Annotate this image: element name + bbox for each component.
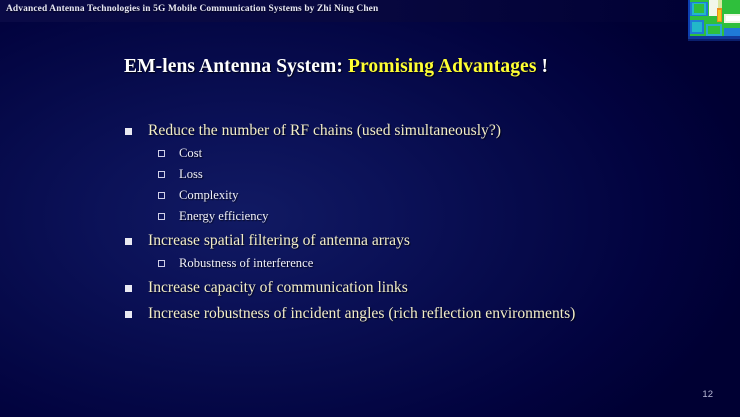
hollow-square-bullet-icon: [158, 192, 165, 199]
em-field-simulation-thumbnail: [688, 0, 740, 41]
bullet-text: Increase robustness of incident angles (…: [148, 305, 575, 322]
bullet-level1: Reduce the number of RF chains (used sim…: [124, 120, 624, 142]
slide-canvas: Advanced Antenna Technologies in 5G Mobi…: [0, 0, 740, 417]
bullet-text: Robustness of interference: [179, 256, 313, 270]
filled-square-bullet-icon: [125, 128, 132, 135]
filled-square-bullet-icon: [125, 285, 132, 292]
slide-title-highlight: Promising Advantages: [348, 56, 537, 77]
em-field-plot-icon: [688, 0, 740, 41]
bullet-list: Reduce the number of RF chains (used sim…: [124, 120, 624, 326]
bullet-level2: Robustness of interference: [124, 253, 624, 274]
bullet-text: Reduce the number of RF chains (used sim…: [148, 122, 501, 139]
hollow-square-bullet-icon: [158, 260, 165, 267]
bullet-level1: Increase capacity of communication links: [124, 277, 624, 299]
bullet-level1: Increase spatial filtering of antenna ar…: [124, 230, 624, 252]
bullet-text: Cost: [179, 146, 202, 160]
bullet-text: Complexity: [179, 188, 238, 202]
bullet-text: Increase capacity of communication links: [148, 279, 408, 296]
slide-title-suffix: !: [542, 56, 549, 77]
slide-title: EM-lens Antenna System: Promising Advant…: [124, 56, 548, 78]
bullet-level1: Increase robustness of incident angles (…: [124, 303, 624, 325]
filled-square-bullet-icon: [125, 311, 132, 318]
slide-title-main: EM-lens Antenna System:: [124, 56, 343, 77]
bullet-level2: Complexity: [124, 185, 624, 206]
bullet-text: Increase spatial filtering of antenna ar…: [148, 232, 410, 249]
bullet-text: Loss: [179, 167, 203, 181]
filled-square-bullet-icon: [125, 238, 132, 245]
presentation-title-header: Advanced Antenna Technologies in 5G Mobi…: [6, 4, 378, 14]
bullet-level2: Loss: [124, 164, 624, 185]
hollow-square-bullet-icon: [158, 150, 165, 157]
hollow-square-bullet-icon: [158, 171, 165, 178]
bullet-text: Energy efficiency: [179, 209, 268, 223]
hollow-square-bullet-icon: [158, 213, 165, 220]
slide-page-number: 12: [702, 389, 713, 400]
bullet-level2: Energy efficiency: [124, 206, 624, 227]
bullet-level2: Cost: [124, 143, 624, 164]
